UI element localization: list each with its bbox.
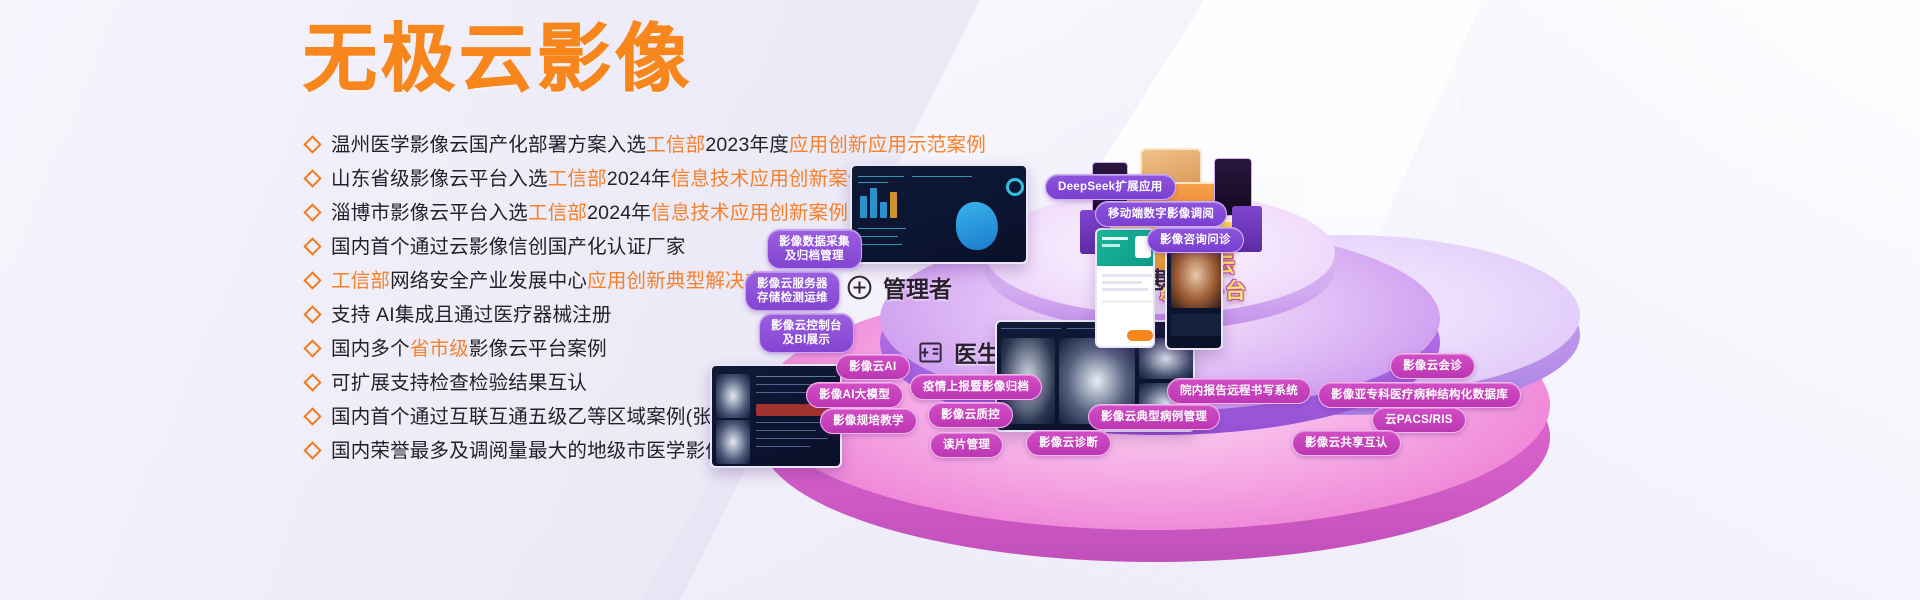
tag-bottom-8[interactable]: 影像云典型病例管理 <box>1088 404 1220 430</box>
role-admin-label: 管理者 <box>883 270 952 304</box>
bullet-segment: 工信部 <box>548 168 607 190</box>
bullet-segment: 工信部 <box>528 202 587 224</box>
diamond-bullet-icon <box>303 407 321 425</box>
doctor-badge-icon <box>916 338 945 367</box>
bullet-text: 工信部网络安全产业发展中心应用创新典型解决方案 <box>331 264 784 298</box>
tag-right-2[interactable]: 移动端数字影像调阅 <box>1095 201 1227 227</box>
tag-line: 云PACS/RIS <box>1385 413 1453 427</box>
tag-bottom-9[interactable]: 影像云诊断 <box>1026 430 1111 456</box>
bullet-segment: 可扩展支持检查检验结果互认 <box>331 372 587 394</box>
tag-line: 影像云质控 <box>941 408 1000 422</box>
tag-right-1[interactable]: DeepSeek扩展应用 <box>1045 174 1176 200</box>
bullet-segment: 2024年 <box>607 168 671 190</box>
bullet-segment: 影像云平台案例 <box>469 338 607 360</box>
tag-line: 移动端数字影像调阅 <box>1108 207 1214 221</box>
tag-line: 及BI展示 <box>771 333 842 347</box>
bullet-text: 可扩展支持检查检验结果互认 <box>331 366 587 400</box>
role-admin: 管理者 <box>845 270 952 304</box>
tag-left-3[interactable]: 影像云控制台及BI展示 <box>759 313 854 353</box>
role-doctor-label: 医生 <box>954 335 1000 369</box>
bullet-segment: 国内首个通过互联互通五级乙等区域案例(张家港) <box>331 406 758 428</box>
bullet-segment: 国内多个 <box>331 338 410 360</box>
diamond-bullet-icon <box>303 305 321 323</box>
tag-bottom-7[interactable]: 院内报告远程书写系统 <box>1167 378 1311 404</box>
bullet-segment: 支持 AI集成且通过医疗器械注册 <box>331 304 612 326</box>
bullet-segment: 2024年 <box>587 202 651 224</box>
tag-line: DeepSeek扩展应用 <box>1058 180 1163 194</box>
bullet-text: 国内首个通过互联互通五级乙等区域案例(张家港) <box>331 400 758 434</box>
tag-bottom-10[interactable]: 影像云会诊 <box>1390 353 1475 379</box>
tag-line: 影像云会诊 <box>1403 359 1462 373</box>
diamond-bullet-icon <box>303 271 321 289</box>
tag-line: 读片管理 <box>943 438 990 452</box>
device-patient-consult-app <box>1095 228 1155 348</box>
tag-bottom-6[interactable]: 读片管理 <box>930 432 1003 458</box>
bullet-text: 支持 AI集成且通过医疗器械注册 <box>331 298 612 332</box>
bullet-text: 国内首个通过云影像信创国产化认证厂家 <box>331 230 686 264</box>
bullet-segment: 国内首个通过云影像信创国产化认证厂家 <box>331 236 686 258</box>
tag-line: 及归档管理 <box>779 249 850 263</box>
diamond-bullet-icon <box>303 441 321 459</box>
tag-line: 影像云典型病例管理 <box>1101 410 1207 424</box>
tag-bottom-3[interactable]: 疫情上报暨影像归档 <box>910 374 1042 400</box>
tag-line: 疫情上报暨影像归档 <box>923 380 1029 394</box>
platform-architecture-diagram: 无极云 影像平台 管理者 患者 <box>730 130 1920 600</box>
diamond-bullet-icon <box>303 203 321 221</box>
tag-line: 影像规培教学 <box>833 414 904 428</box>
banner-stage: 无极云影像 温州医学影像云国产化部署方案入选工信部2023年度应用创新应用示范案… <box>0 0 1920 600</box>
medical-cross-circle-icon <box>845 273 874 302</box>
bullet-segment: 省市级 <box>410 338 469 360</box>
tag-bottom-11[interactable]: 影像亚专科医疗病种结构化数据库 <box>1318 382 1521 408</box>
tag-line: 存储检测运维 <box>757 291 828 305</box>
tag-line: 影像亚专科医疗病种结构化数据库 <box>1331 388 1508 402</box>
tag-line: 院内报告远程书写系统 <box>1180 384 1298 398</box>
tag-bottom-1[interactable]: 影像云AI <box>836 354 910 380</box>
tag-bottom-5[interactable]: 影像云质控 <box>928 402 1013 428</box>
bullet-segment: 淄博市影像云平台入选 <box>331 202 528 224</box>
diamond-bullet-icon <box>303 169 321 187</box>
tag-bottom-2[interactable]: 影像AI大模型 <box>806 382 903 408</box>
tag-line: 影像咨询问诊 <box>1160 233 1231 247</box>
diamond-bullet-icon <box>303 339 321 357</box>
bullet-segment: 山东省级影像云平台入选 <box>331 168 548 190</box>
bullet-segment: 网络安全产业发展中心 <box>390 270 587 292</box>
tag-bottom-4[interactable]: 影像规培教学 <box>820 408 917 434</box>
role-doctor: 医生 <box>916 335 1000 369</box>
tag-line: 影像云AI <box>849 360 897 374</box>
tag-line: 影像云服务器 <box>757 277 828 291</box>
diamond-bullet-icon <box>303 373 321 391</box>
bullet-text: 国内多个省市级影像云平台案例 <box>331 332 607 366</box>
tag-right-3[interactable]: 影像咨询问诊 <box>1147 227 1244 253</box>
bullet-segment: 工信部 <box>646 134 705 156</box>
bullet-segment: 工信部 <box>331 270 390 292</box>
tag-line: 影像云诊断 <box>1039 436 1098 450</box>
tag-bottom-13[interactable]: 影像云共享互认 <box>1292 430 1401 456</box>
page-title: 无极云影像 <box>303 22 693 96</box>
tag-line: 影像AI大模型 <box>819 388 890 402</box>
tag-line: 影像云控制台 <box>771 319 842 333</box>
tag-line: 影像数据采集 <box>779 235 850 249</box>
diamond-bullet-icon <box>303 237 321 255</box>
device-admin-dashboard <box>850 164 1028 264</box>
tag-left-1[interactable]: 影像数据采集及归档管理 <box>767 229 862 269</box>
diamond-bullet-icon <box>303 135 321 153</box>
tag-line: 影像云共享互认 <box>1305 436 1388 450</box>
bullet-segment: 温州医学影像云国产化部署方案入选 <box>331 134 646 156</box>
tag-left-2[interactable]: 影像云服务器存储检测运维 <box>745 271 840 311</box>
